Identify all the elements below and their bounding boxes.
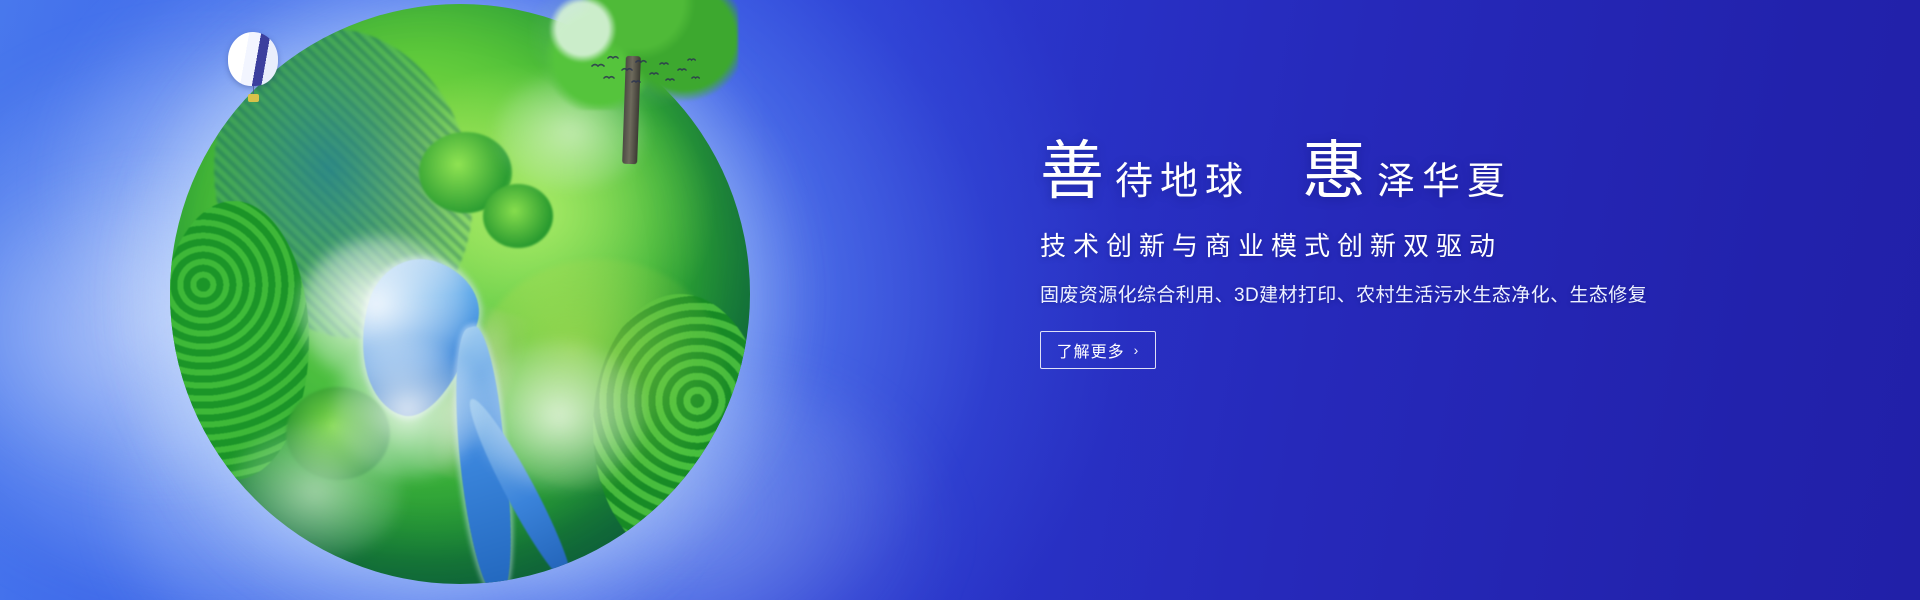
- headline-part1-small: 待地球: [1115, 162, 1250, 204]
- hero-banner: 善 待地球 惠 泽华夏 技术创新与商业模式创新双驱动 固废资源化综合利用、3D建…: [0, 0, 1920, 600]
- hero-subtitle: 技术创新与商业模式创新双驱动: [1040, 226, 1760, 263]
- bush-3: [286, 387, 390, 480]
- learn-more-label: 了解更多: [1057, 338, 1125, 362]
- headline-part1-big: 善: [1040, 140, 1105, 204]
- balloon-basket: [248, 94, 259, 102]
- bush-2: [483, 184, 553, 248]
- hero-description: 固废资源化综合利用、3D建材打印、农村生活污水生态净化、生态修复: [1040, 280, 1760, 307]
- balloon-envelope: [228, 32, 278, 86]
- birds-icon: [588, 50, 708, 96]
- hero-content: 善 待地球 惠 泽华夏 技术创新与商业模式创新双驱动 固废资源化综合利用、3D建…: [1040, 140, 1760, 369]
- headline-part2-big: 惠: [1302, 140, 1367, 204]
- bush-1: [419, 132, 512, 213]
- headline-part2-small: 泽华夏: [1377, 162, 1512, 204]
- learn-more-button[interactable]: 了解更多 ›: [1040, 331, 1156, 369]
- page-title: 善 待地球 惠 泽华夏: [1040, 140, 1760, 204]
- chevron-right-icon: ›: [1134, 342, 1140, 358]
- hot-air-balloon-icon: [228, 32, 284, 106]
